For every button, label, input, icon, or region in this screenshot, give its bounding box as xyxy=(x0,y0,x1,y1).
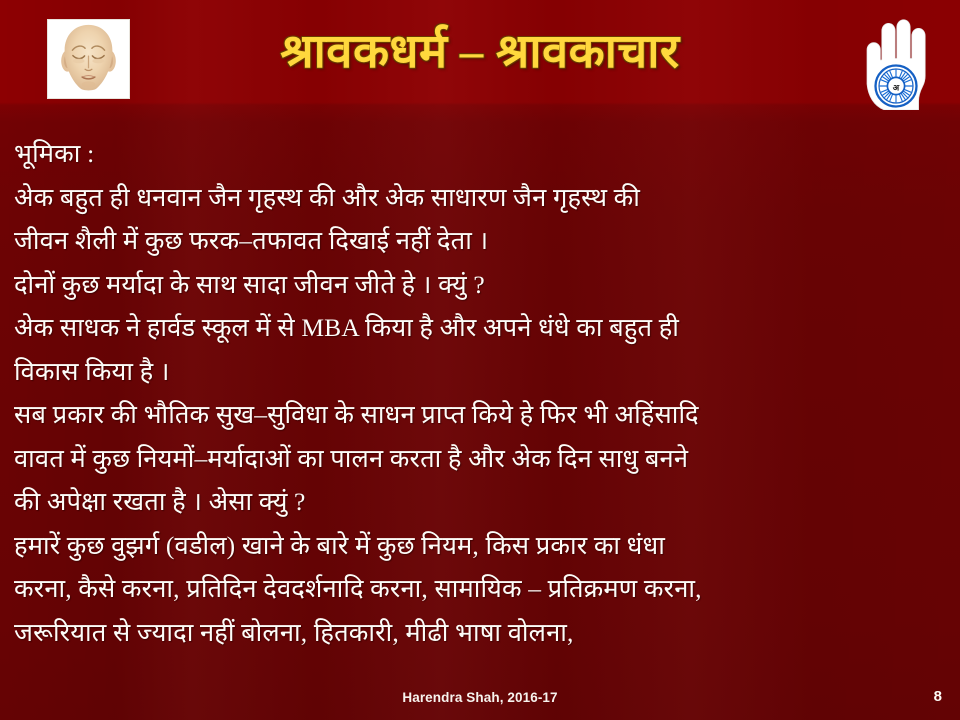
body-line: दोनों कुछ मर्यादा के साथ सादा जीवन जीते … xyxy=(14,263,946,307)
body-line: जरूरियात से ज्यादा नहीं बोलना, हितकारी, … xyxy=(14,611,946,655)
body-line: अेक साधक ने हार्वड स्कूल में से MBA किया… xyxy=(14,306,946,350)
body-line: भूमिका : xyxy=(14,132,946,176)
meditating-tirthankara-face-image xyxy=(47,19,130,99)
slide-header: श्रावकधर्म – श्रावकाचार xyxy=(0,0,960,102)
footer-credit-text: Harendra Shah, 2016-17 xyxy=(0,690,960,705)
body-line: वावत में कुछ नियमों–मर्यादाओं का पालन कर… xyxy=(14,437,946,481)
body-line: हमारें कुछ वुझर्ग (वडील) खाने के बारे मे… xyxy=(14,524,946,568)
slide-body: भूमिका : अेक बहुत ही धनवान जैन गृहस्थ की… xyxy=(14,132,946,654)
body-line: करना, कैसे करना, प्रतिदिन देवदर्शनादि कर… xyxy=(14,567,946,611)
body-line: विकास किया है । xyxy=(14,350,946,394)
body-line: जीवन शैली में कुछ फरक–तफावत दिखाई नहीं द… xyxy=(14,219,946,263)
page-title: श्रावकधर्म – श्रावकाचार xyxy=(160,18,800,88)
presentation-slide: श्रावकधर्म – श्रावकाचार xyxy=(0,0,960,720)
page-number: 8 xyxy=(934,688,942,705)
ahimsa-label: अ xyxy=(893,82,900,92)
slide-footer: Harendra Shah, 2016-17 8 xyxy=(0,684,960,720)
body-line: सब प्रकार की भौतिक सुख–सुविधा के साधन प्… xyxy=(14,393,946,437)
body-line: अेक बहुत ही धनवान जैन गृहस्थ की और अेक स… xyxy=(14,176,946,220)
body-line: की अपेक्षा रखता है । अेसा क्युं ? xyxy=(14,480,946,524)
jain-ahimsa-hand-icon: अ xyxy=(856,14,938,110)
